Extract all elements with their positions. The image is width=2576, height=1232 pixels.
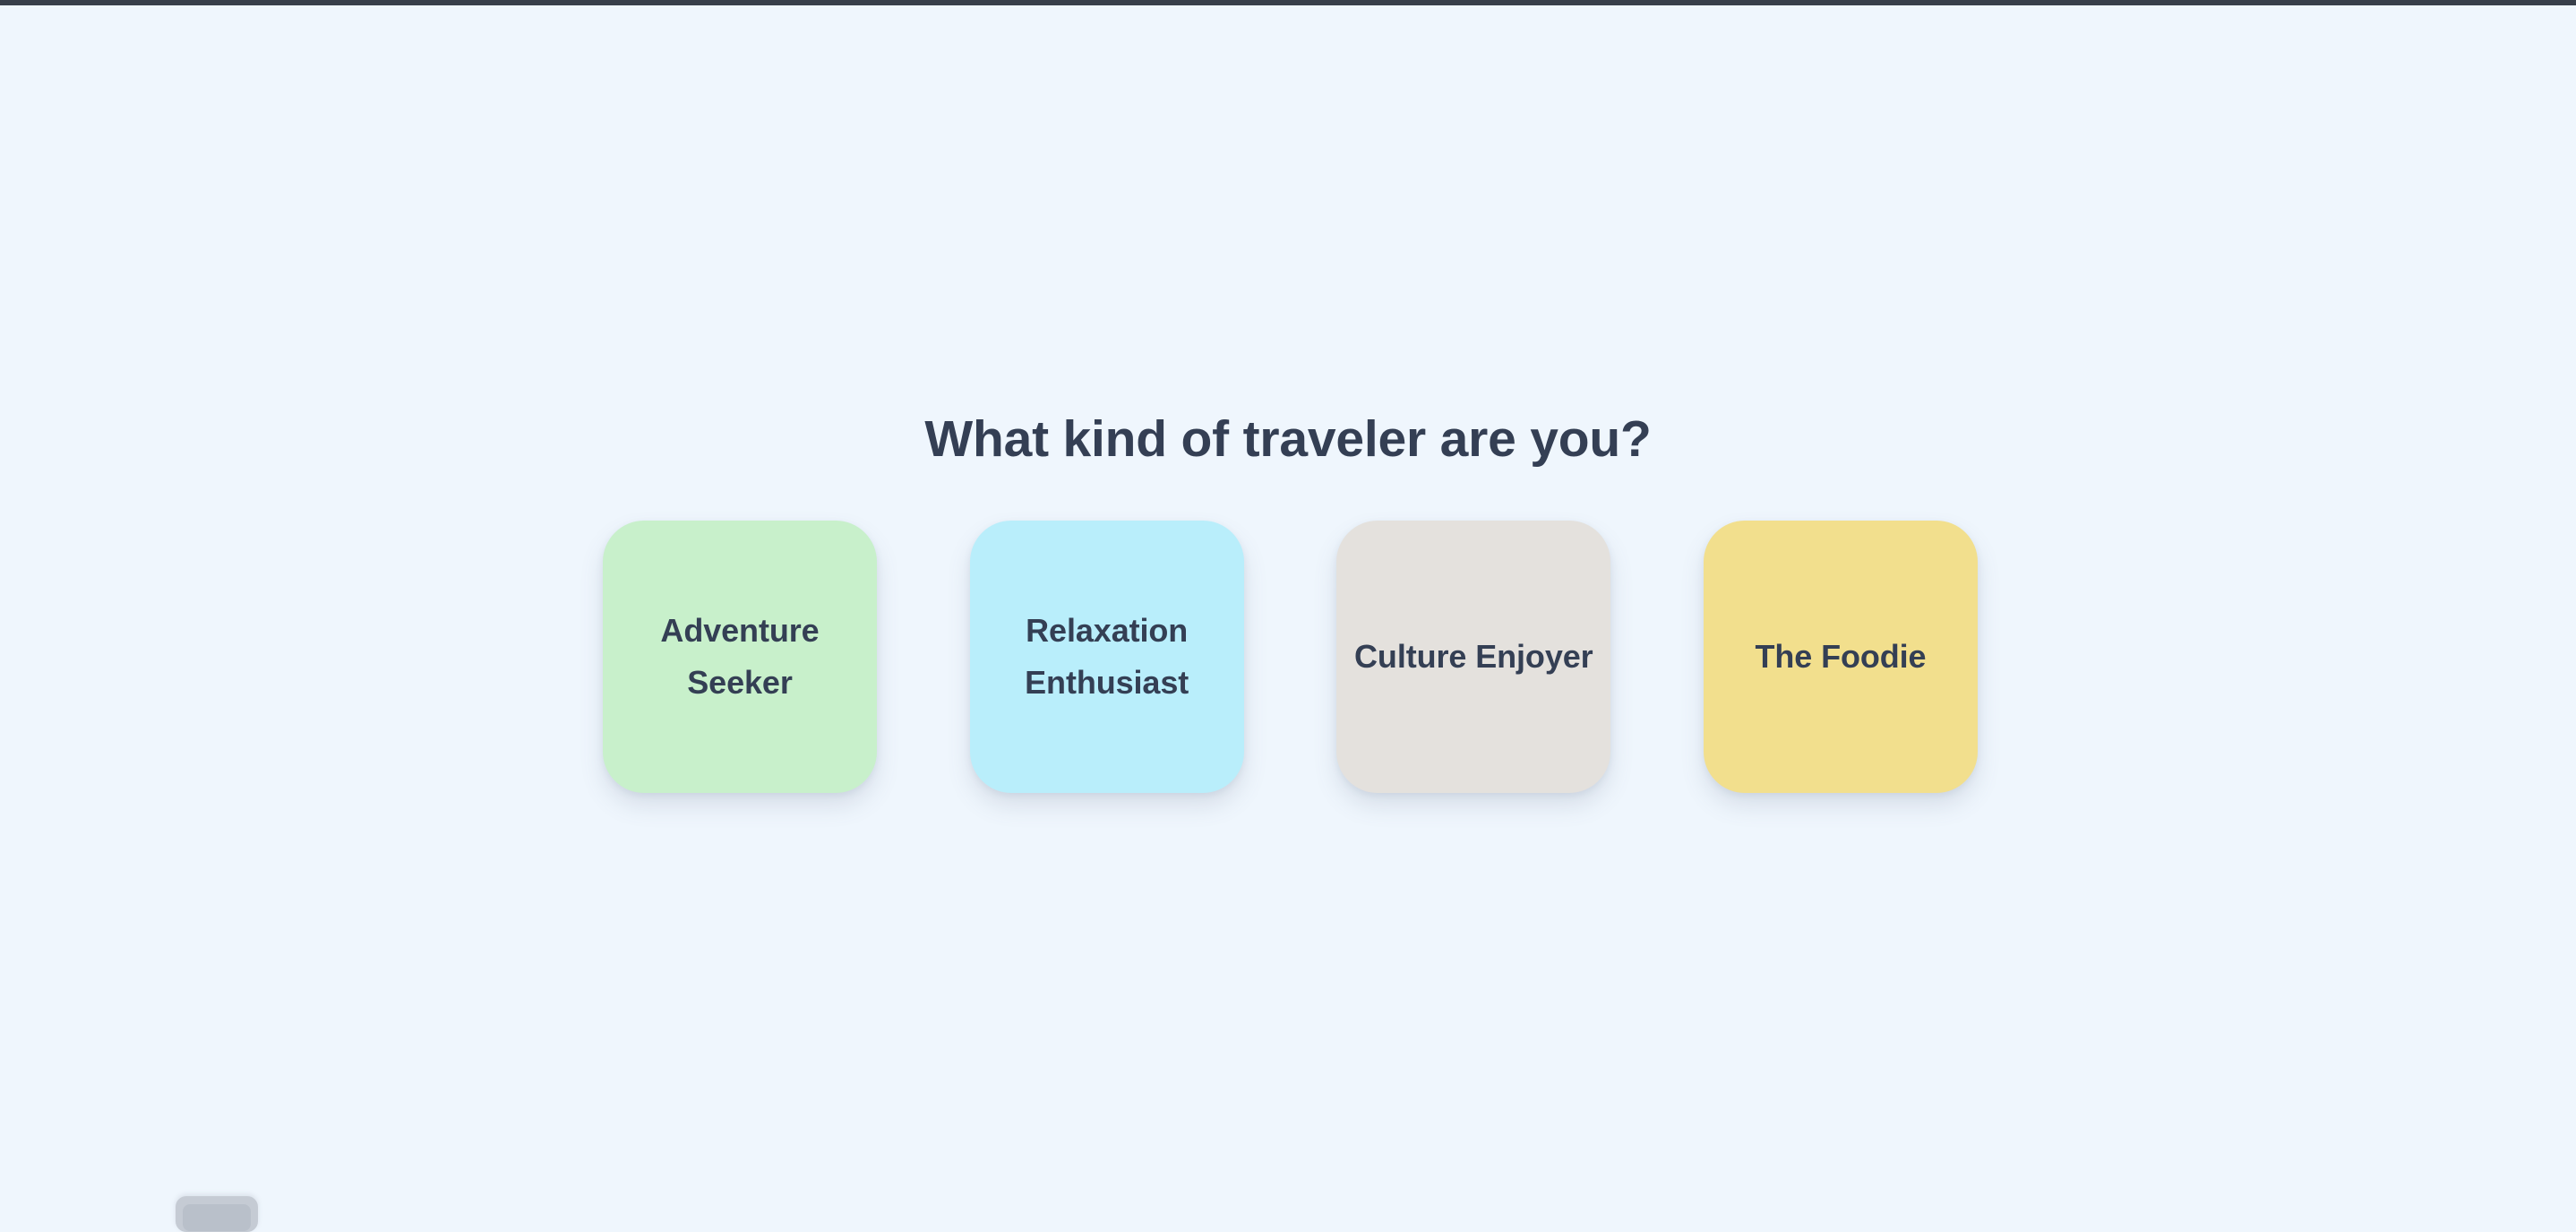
traveler-card-label: Adventure Seeker [617, 605, 863, 709]
traveler-card-relaxation-enthusiast[interactable]: Relaxation Enthusiast [970, 521, 1244, 793]
traveler-type-card-row: Adventure Seeker Relaxation Enthusiast C… [603, 521, 1978, 793]
page-title: What kind of traveler are you? [0, 408, 2576, 470]
bottom-left-partial-button[interactable] [176, 1196, 258, 1232]
traveler-card-label: Culture Enjoyer [1354, 631, 1593, 683]
traveler-card-label: The Foodie [1755, 631, 1926, 683]
traveler-card-adventure-seeker[interactable]: Adventure Seeker [603, 521, 877, 793]
traveler-card-label: Relaxation Enthusiast [984, 605, 1230, 709]
bottom-left-partial-button-inner [183, 1204, 251, 1231]
traveler-type-selection-screen: What kind of traveler are you? Adventure… [0, 0, 2576, 1208]
traveler-card-the-foodie[interactable]: The Foodie [1704, 521, 1978, 793]
traveler-card-culture-enjoyer[interactable]: Culture Enjoyer [1336, 521, 1610, 793]
